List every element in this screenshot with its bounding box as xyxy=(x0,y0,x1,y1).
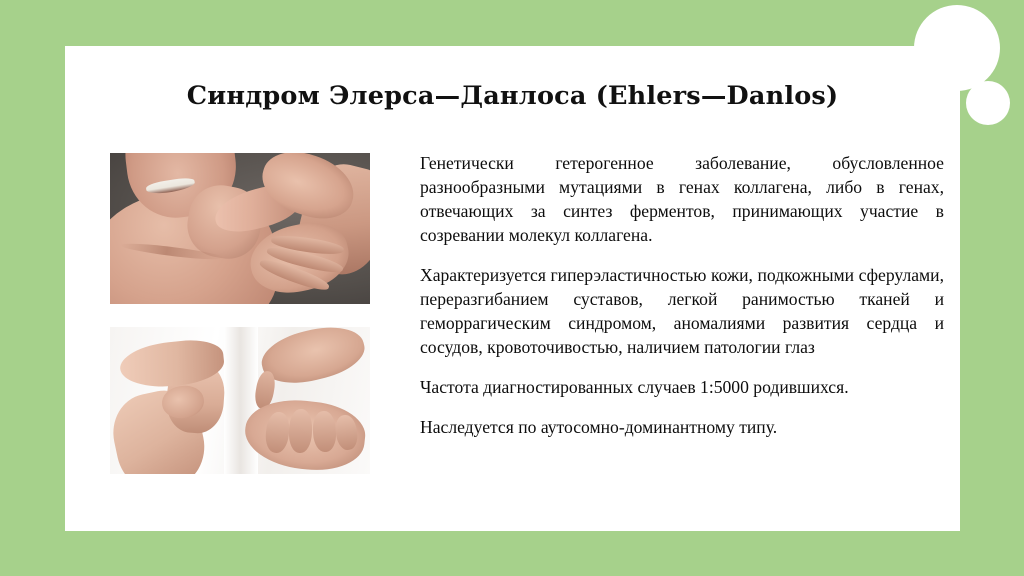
joint-hypermobility-photo xyxy=(110,327,370,474)
figure-column xyxy=(110,153,370,474)
slide-canvas: Синдром Элерса—Данлоса (Ehlers—Danlos) xyxy=(0,0,1024,576)
paragraph-frequency: Частота диагностированных случаев 1:5000… xyxy=(420,375,944,399)
paragraph-definition: Генетически гетерогенное заболевание, об… xyxy=(420,151,944,247)
large-circle-decoration xyxy=(914,5,1000,91)
content-card: Синдром Элерса—Данлоса (Ehlers—Danlos) xyxy=(65,46,960,531)
paragraph-manifestations: Характеризуется гиперэластичностью кожи,… xyxy=(420,263,944,359)
wall-edge-shape xyxy=(224,327,258,474)
body-text-column: Генетически гетерогенное заболевание, об… xyxy=(420,151,944,439)
small-circle-decoration xyxy=(966,81,1010,125)
skin-hyperelasticity-photo xyxy=(110,153,370,304)
page-title: Синдром Элерса—Данлоса (Ehlers—Danlos) xyxy=(65,81,960,111)
paragraph-inheritance: Наследуется по аутосомно-доминантному ти… xyxy=(420,415,944,439)
